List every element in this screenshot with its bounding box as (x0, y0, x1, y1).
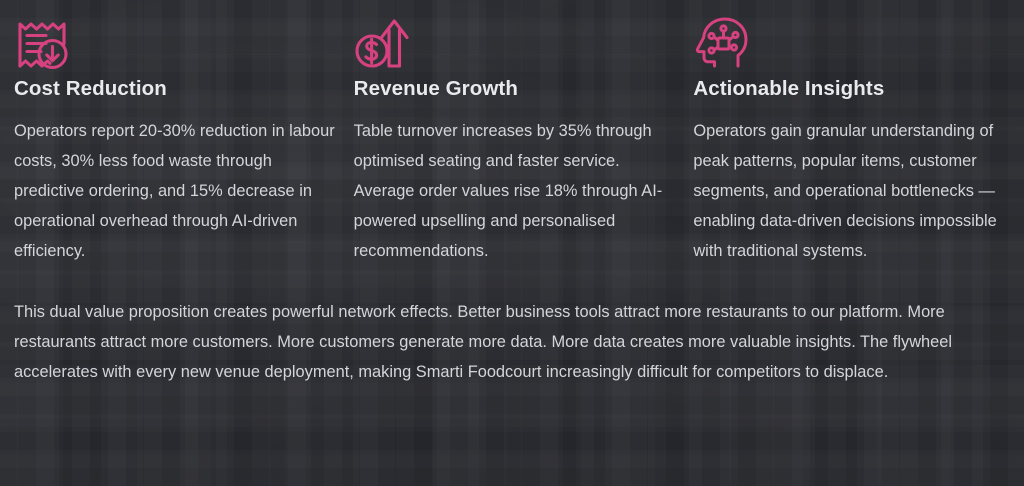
benefit-body: Operators report 20-30% reduction in lab… (14, 116, 342, 266)
summary-paragraph: This dual value proposition creates powe… (0, 297, 1024, 387)
content-area: Cost Reduction Operators report 20-30% r… (0, 0, 1024, 387)
benefit-card-actionable-insights: Actionable Insights Operators gain granu… (693, 0, 1024, 266)
head-network-icon (693, 0, 1024, 76)
benefit-title: Actionable Insights (693, 76, 1024, 102)
benefit-body: Operators gain granular understanding of… (693, 116, 1024, 266)
benefit-columns: Cost Reduction Operators report 20-30% r… (0, 0, 1024, 266)
page-root: Cost Reduction Operators report 20-30% r… (0, 0, 1024, 486)
benefit-card-cost-reduction: Cost Reduction Operators report 20-30% r… (14, 0, 342, 266)
receipt-arrow-down-icon (14, 0, 342, 76)
benefit-body: Table turnover increases by 35% through … (354, 116, 682, 266)
benefit-title: Revenue Growth (354, 76, 682, 102)
benefit-card-revenue-growth: Revenue Growth Table turnover increases … (354, 0, 682, 266)
dollar-coin-arrow-up-icon (354, 0, 682, 76)
benefit-title: Cost Reduction (14, 76, 342, 102)
